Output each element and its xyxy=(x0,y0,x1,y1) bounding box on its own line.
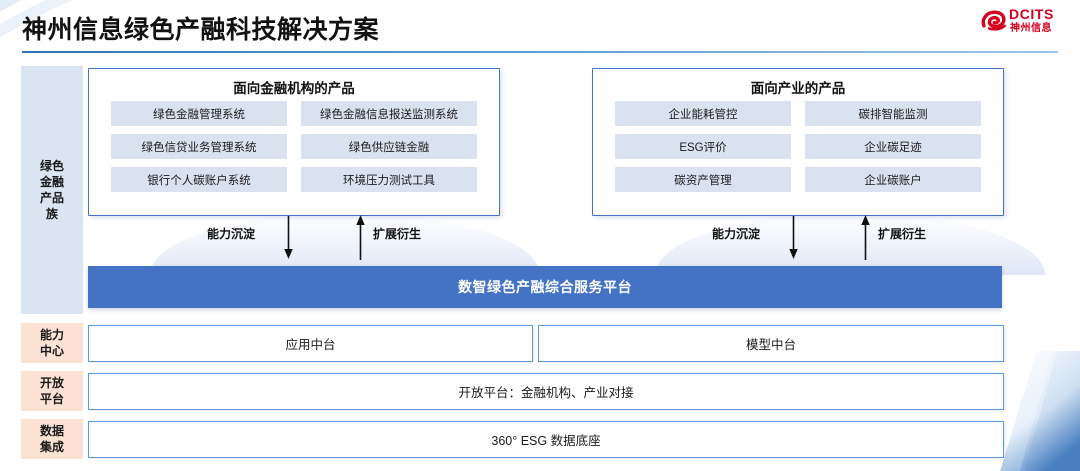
sidebar-label-line: 中心 xyxy=(40,343,64,359)
product-item[interactable]: 绿色金融管理系统 xyxy=(111,101,287,126)
panel-grid-financial: 绿色金融管理系统 绿色金融信息报送监测系统 绿色信贷业务管理系统 绿色供应链金融… xyxy=(111,101,477,192)
flow-label-capability-precipitation-left: 能力沉淀 xyxy=(207,225,255,242)
sidebar-label-line: 开放 xyxy=(40,375,64,391)
row-model-middle-platform[interactable]: 模型中台 xyxy=(538,325,1004,362)
row-data-foundation[interactable]: 360° ESG 数据底座 xyxy=(88,421,1004,458)
product-item[interactable]: 绿色供应链金融 xyxy=(301,134,477,159)
flow-label-extension-derivation-left: 扩展衍生 xyxy=(373,225,421,242)
arrow-up-icon xyxy=(355,214,366,260)
slide-canvas: 神州信息绿色产融科技解决方案 DCITS 神州信息 绿色 金融 产品 族 能力 … xyxy=(0,0,1080,471)
row-application-middle-platform[interactable]: 应用中台 xyxy=(88,325,533,362)
product-item[interactable]: 绿色信贷业务管理系统 xyxy=(111,134,287,159)
sidebar-label-line: 族 xyxy=(40,206,64,222)
panel-industry-products: 面向产业的产品 企业能耗管控 碳排智能监测 ESG评价 企业碳足迹 碳资产管理 … xyxy=(592,68,1004,216)
product-item[interactable]: ESG评价 xyxy=(615,134,791,159)
product-item[interactable]: 银行个人碳账户系统 xyxy=(111,167,287,192)
sidebar-item-green-finance-family[interactable]: 绿色 金融 产品 族 xyxy=(21,66,83,314)
title-underline-rule xyxy=(22,51,1058,53)
sidebar-item-capability-center-label: 能力 中心 xyxy=(40,327,64,359)
sidebar-item-open-platform[interactable]: 开放 平台 xyxy=(21,371,83,411)
sidebar-item-data-integration-label: 数据 集成 xyxy=(40,423,64,455)
product-item[interactable]: 企业碳账户 xyxy=(805,167,981,192)
arrow-down-icon xyxy=(283,216,294,260)
row-open-platform[interactable]: 开放平台：金融机构、产业对接 xyxy=(88,373,1004,410)
flow-label-capability-precipitation-right: 能力沉淀 xyxy=(712,225,760,242)
product-item[interactable]: 环境压力测试工具 xyxy=(301,167,477,192)
sidebar-label-line: 平台 xyxy=(40,391,64,407)
sidebar-label-line: 能力 xyxy=(40,327,64,343)
sidebar-item-data-integration[interactable]: 数据 集成 xyxy=(21,419,83,459)
sidebar-label-line: 绿色 xyxy=(40,158,64,174)
panel-title-industry: 面向产业的产品 xyxy=(593,77,1003,97)
sidebar-label-line: 集成 xyxy=(40,439,64,455)
arrow-down-icon xyxy=(788,216,799,260)
platform-bar-integrated-service[interactable]: 数智绿色产融综合服务平台 xyxy=(88,266,1002,308)
slide-header: 神州信息绿色产融科技解决方案 DCITS 神州信息 xyxy=(0,0,1080,52)
brand-logo: DCITS 神州信息 xyxy=(980,7,1072,39)
dcits-swoosh-icon xyxy=(980,9,1006,31)
sidebar-label-line: 产品 xyxy=(40,190,64,206)
sidebar-item-open-platform-label: 开放 平台 xyxy=(40,375,64,407)
product-item[interactable]: 绿色金融信息报送监测系统 xyxy=(301,101,477,126)
sidebar-label-line: 金融 xyxy=(40,174,64,190)
sidebar-item-capability-center[interactable]: 能力 中心 xyxy=(21,323,83,363)
logo-wordmark: DCITS xyxy=(1009,7,1054,22)
flow-label-extension-derivation-right: 扩展衍生 xyxy=(878,225,926,242)
panel-financial-institution-products: 面向金融机构的产品 绿色金融管理系统 绿色金融信息报送监测系统 绿色信贷业务管理… xyxy=(88,68,500,216)
panel-title-financial: 面向金融机构的产品 xyxy=(89,77,499,97)
arrow-up-icon xyxy=(860,214,871,260)
product-item[interactable]: 企业能耗管控 xyxy=(615,101,791,126)
page-title: 神州信息绿色产融科技解决方案 xyxy=(22,10,379,46)
product-item[interactable]: 碳排智能监测 xyxy=(805,101,981,126)
logo-subtext: 神州信息 xyxy=(1010,23,1052,35)
product-item[interactable]: 碳资产管理 xyxy=(615,167,791,192)
panel-grid-industry: 企业能耗管控 碳排智能监测 ESG评价 企业碳足迹 碳资产管理 企业碳账户 xyxy=(615,101,981,192)
sidebar-item-green-finance-family-label: 绿色 金融 产品 族 xyxy=(40,158,64,222)
sidebar-label-line: 数据 xyxy=(40,423,64,439)
product-item[interactable]: 企业碳足迹 xyxy=(805,134,981,159)
